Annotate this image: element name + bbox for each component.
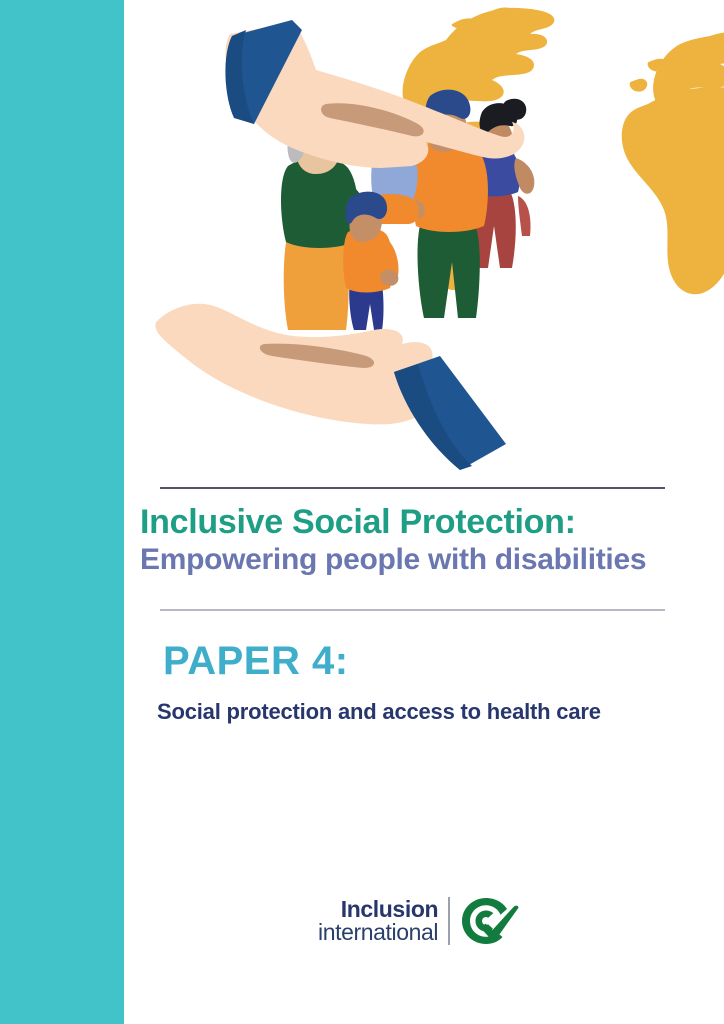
inclusion-international-logo: Inclusion international [318,896,519,946]
page-title: Inclusive Social Protection: [140,503,700,542]
paper-description: Social protection and access to health c… [157,685,703,725]
divider-above-title [160,487,665,489]
page-subtitle: Empowering people with disabilities [140,542,700,578]
cover-page: Inclusive Social Protection: Empowering … [0,0,724,1024]
cover-illustration [150,0,724,470]
paper-block: PAPER 4: Social protection and access to… [163,638,703,726]
logo-wordmark: Inclusion international [318,898,438,945]
paper-number-label: PAPER 4: [163,638,703,685]
logo-word-international: international [318,921,438,944]
left-accent-band [0,0,124,1024]
inclusion-international-swoosh-check-icon [461,896,519,946]
divider-below-title [160,609,665,611]
title-block: Inclusive Social Protection: Empowering … [140,503,700,578]
logo-word-inclusion: Inclusion [341,898,438,921]
logo-vertical-divider [448,897,450,945]
